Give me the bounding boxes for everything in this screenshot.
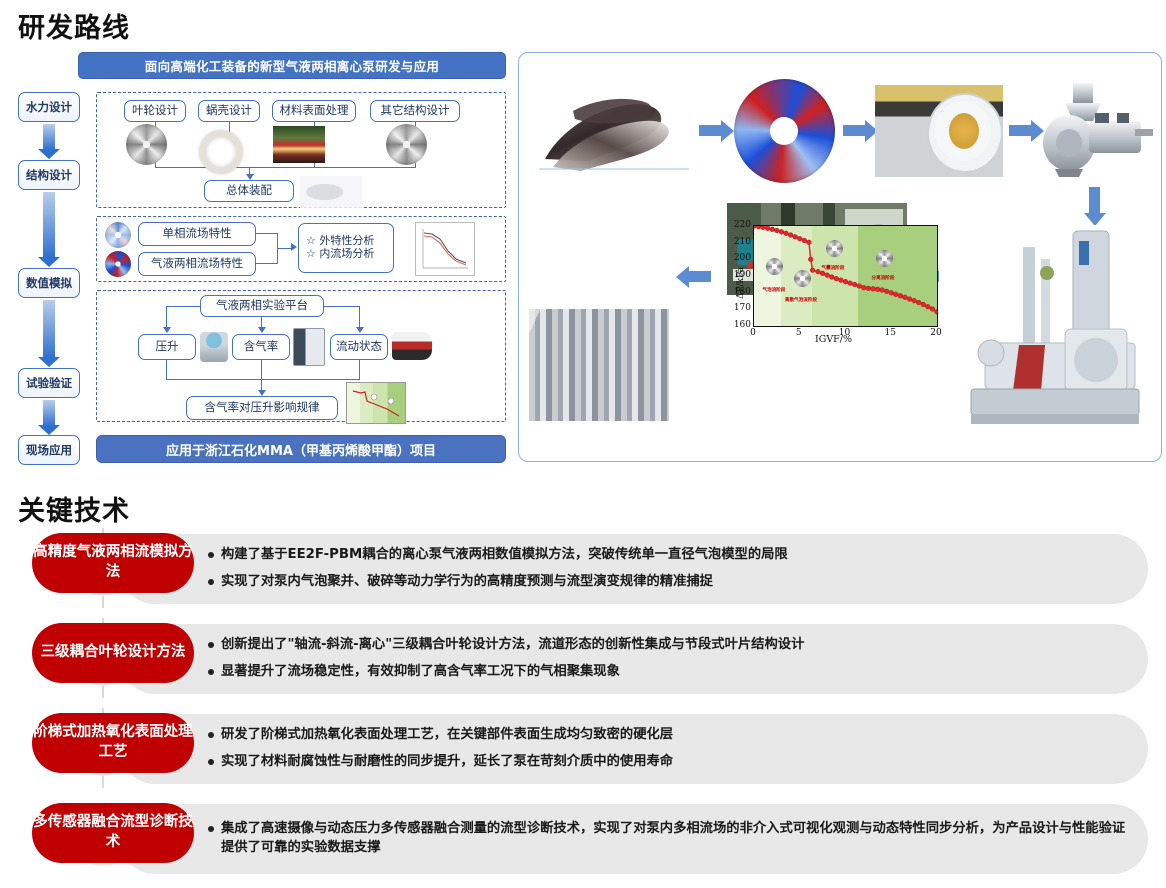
exp-box-flow-state[interactable]: 流动状态 [330,334,388,360]
flow-regime-icon [876,250,893,267]
bullet-dot-icon [208,642,214,648]
flow-arrow-down [1089,187,1100,213]
pump-assembly-thumbnail [300,176,362,208]
bullet-text: 创新提出了"轴流-斜流-离心"三级耦合叶轮设计方法，流道形态的创新性集成与节段式… [221,635,804,654]
page-title-roadmap: 研发路线 [18,6,130,45]
design-box-volute[interactable]: 蜗壳设计 [198,100,260,122]
sim-box-single-phase[interactable]: 单相流场特性 [138,222,256,246]
exp-box-platform[interactable]: 气液两相实验平台 [200,295,324,317]
bullet-item: 创新提出了"轴流-斜流-离心"三级耦合叶轮设计方法，流道形态的创新性集成与节段式… [208,635,1126,654]
chart-y-tick: 160 [727,320,751,330]
stage-chip-hydraulic[interactable]: 水力设计 [18,92,80,122]
chart-region-label: 分离流阶段 [866,276,900,282]
flow-arrow-5 [689,271,711,282]
key-tech-row-3: 3 阶梯式加热氧化表面处理工艺 研发了阶梯式加热氧化表面处理工艺，在关键部件表面… [18,708,1148,788]
flow-arrow-3 [1009,125,1031,136]
chart-y-tick: 180 [727,287,751,297]
bullet-dot-icon [208,579,214,585]
page-title-keytech: 关键技术 [18,489,130,528]
chart-y-tick: 170 [727,303,751,313]
bullet-item: 实现了对泵内气泡聚并、破碎等动力学行为的高精度预测与流型演变规律的精准捕捉 [208,572,1126,591]
exp-box-result[interactable]: 含气率对压升影响规律 [186,396,338,420]
sim-analysis-internal: ☆ 内流场分析 [306,248,374,261]
volute-flange-photo [875,85,1003,177]
bullet-item: 集成了高速摄像与动态压力多传感器融合测量的流型诊断技术，实现了对泵内多相流场的非… [208,819,1126,858]
key-tech-bullets-2: 创新提出了"轴流-斜流-离心"三级耦合叶轮设计方法，流道形态的创新性集成与节段式… [208,618,1126,698]
flow-regime-icon [794,270,811,287]
bullet-dot-icon [208,732,214,738]
chemical-plant-photo [529,309,669,421]
exp-up-right [359,360,360,380]
key-tech-pill-4[interactable]: 多传感器融合流型诊断技术 [32,803,194,863]
flow-arrow-1 [699,125,721,136]
chart-region-label: 气囊流阶段 [816,266,850,272]
key-tech-row-4: 4 多传感器融合流型诊断技术 集成了高速摄像与动态压力多传感器融合测量的流型诊断… [18,798,1148,878]
sim-arrow-out [291,243,297,251]
chart-region-label: 离散气泡流阶段 [784,298,818,304]
sim-box-two-phase[interactable]: 气液两相流场特性 [138,252,256,276]
stage-arrow-2 [43,192,55,258]
stage-chip-experiment[interactable]: 试验验证 [18,368,80,398]
bullet-text: 实现了材料耐腐蚀性与耐磨性的同步提升，延长了泵在苛刻介质中的使用寿命 [221,752,673,771]
sim-line-b [256,263,278,264]
chart-x-tick: 10 [839,328,850,338]
gas-fraction-meter-thumbnail [293,328,325,366]
key-tech-pill-1[interactable]: 高精度气液两相流模拟方法 [32,533,194,593]
exp-center-drop [261,360,262,392]
key-tech-bullets-1: 构建了基于EE2F-PBM耦合的离心泵气液两相数值模拟方法，突破传统单一直径气泡… [208,528,1126,608]
bullet-text: 集成了高速摄像与动态压力多传感器融合测量的流型诊断技术，实现了对泵内多相流场的非… [221,819,1126,858]
other-structure-thumbnail [386,124,427,165]
stage-chip-structure[interactable]: 结构设计 [18,160,80,190]
high-speed-camera-thumbnail [392,332,432,360]
pump-skid-unit-photo [955,225,1151,430]
blade-3d-render-photo [531,81,696,181]
exp-result-chart-thumbnail [346,382,406,424]
cfd-impeller-contour-photo [732,77,837,185]
key-tech-row-2: 2 三级耦合叶轮设计方法 创新提出了"轴流-斜流-离心"三级耦合叶轮设计方法，流… [18,618,1148,698]
exp-drop-right [359,306,360,328]
chart-x-tick: 20 [930,328,941,338]
roadmap-bottom-bar: 应用于浙江石化MMA（甲基丙烯酸甲酯）项目 [96,435,506,463]
chart-x-axis-label: IGVF/% [727,334,940,345]
pressure-transmitter-thumbnail [200,332,228,362]
design-box-surface[interactable]: 材料表面处理 [272,100,356,122]
chart-region-label: 气泡流阶段 [757,288,791,294]
bullet-item: 构建了基于EE2F-PBM耦合的离心泵气液两相数值模拟方法，突破传统单一直径气泡… [208,545,1126,564]
bullet-item: 研发了阶梯式加热氧化表面处理工艺，在关键部件表面生成均匀致密的硬化层 [208,725,1126,744]
bullet-item: 显著提升了流场稳定性，有效抑制了高含气率工况下的气相聚集现象 [208,662,1126,681]
stage-arrow-3 [43,300,55,358]
bullet-text: 显著提升了流场稳定性，有效抑制了高含气率工况下的气相聚集现象 [221,662,620,681]
roadmap-diagram: 面向高端化工装备的新型气液两相离心泵研发与应用 水力设计 结构设计 数值模拟 试… [18,52,495,462]
bullet-text: 构建了基于EE2F-PBM耦合的离心泵气液两相数值模拟方法，突破传统单一直径气泡… [221,545,788,564]
sim-analysis-box[interactable]: ☆ 外特性分析 ☆ 内流场分析 [298,223,394,273]
stage-arrow-4 [43,400,55,426]
chart-x-tick: 0 [750,328,756,338]
stage-arrow-1 [43,124,55,150]
impeller-thumbnail [126,124,167,165]
exp-arrow-right [356,327,364,333]
chart-y-tick: 220 [727,220,751,230]
chart-series-svg [754,226,937,326]
stage-chip-field[interactable]: 现场应用 [18,435,80,465]
design-box-other[interactable]: 其它结构设计 [370,100,460,122]
roadmap-banner: 面向高端化工装备的新型气液两相离心泵研发与应用 [78,52,506,79]
flow-regime-icon [766,258,783,275]
key-tech-pill-3[interactable]: 阶梯式加热氧化表面处理工艺 [32,713,194,773]
key-tech-pill-2[interactable]: 三级耦合叶轮设计方法 [32,623,194,683]
design-box-impeller[interactable]: 叶轮设计 [124,100,186,122]
exp-line-right [324,306,360,307]
bullet-dot-icon [208,759,214,765]
chart-y-tick: 210 [727,237,751,247]
two-phase-cfd-thumbnail [105,251,131,277]
key-technologies-list: 1 高精度气液两相流模拟方法 构建了基于EE2F-PBM耦合的离心泵气液两相数值… [18,528,1148,888]
bullet-text: 实现了对泵内气泡聚并、破碎等动力学行为的高精度预测与流型演变规律的精准捕捉 [221,572,713,591]
key-tech-bullets-4: 集成了高速摄像与动态压力多传感器融合测量的流型诊断技术，实现了对泵内多相流场的非… [208,798,1126,878]
bullet-text: 研发了阶梯式加热氧化表面处理工艺，在关键部件表面生成均匀致密的硬化层 [221,725,673,744]
stage-chip-simulation[interactable]: 数值模拟 [18,268,80,298]
exp-arrow-mid [258,327,266,333]
bullet-dot-icon [208,669,214,675]
exp-bus [166,379,360,380]
chart-y-tick: 190 [727,270,751,280]
flow-regime-icon [826,240,843,257]
key-tech-row-1: 1 高精度气液两相流模拟方法 构建了基于EE2F-PBM耦合的离心泵气液两相数值… [18,528,1148,608]
exp-up-left [166,360,167,380]
surface-treatment-thumbnail [273,126,325,163]
exp-drop-left [166,306,167,328]
exp-box-pressure-rise[interactable]: 压升 [138,334,196,360]
sim-performance-curve-thumbnail [415,222,475,276]
design-line-bus [155,167,416,168]
flow-arrow-2 [843,125,865,136]
bullet-dot-icon [208,826,214,832]
exp-arrow-left [163,327,171,333]
chart-x-tick: 5 [796,328,802,338]
bullet-dot-icon [208,552,214,558]
photo-flow-panel: ΔP/kPa IGVF/% 气泡流阶段离散气泡流阶段气囊流阶段分离流阶段 160… [518,52,1162,462]
chart-y-tick: 200 [727,253,751,263]
chart-plot-area: 气泡流阶段离散气泡流阶段气囊流阶段分离流阶段 [753,225,938,327]
design-box-assembly[interactable]: 总体装配 [204,180,294,202]
sim-line-a [256,233,278,234]
pressure-rise-vs-igvf-chart: ΔP/kPa IGVF/% 气泡流阶段离散气泡流阶段气囊流阶段分离流阶段 160… [727,223,940,343]
chart-x-tick: 15 [885,328,896,338]
bullet-item: 实现了材料耐腐蚀性与耐磨性的同步提升，延长了泵在苛刻介质中的使用寿命 [208,752,1126,771]
single-phase-cfd-thumbnail [105,222,131,248]
pump-assembly-cad-photo [1039,77,1154,181]
exp-line-left [166,306,200,307]
exp-box-gas-fraction[interactable]: 含气率 [232,334,290,360]
volute-thumbnail [199,130,243,174]
key-tech-bullets-3: 研发了阶梯式加热氧化表面处理工艺，在关键部件表面生成均匀致密的硬化层 实现了材料… [208,708,1126,788]
